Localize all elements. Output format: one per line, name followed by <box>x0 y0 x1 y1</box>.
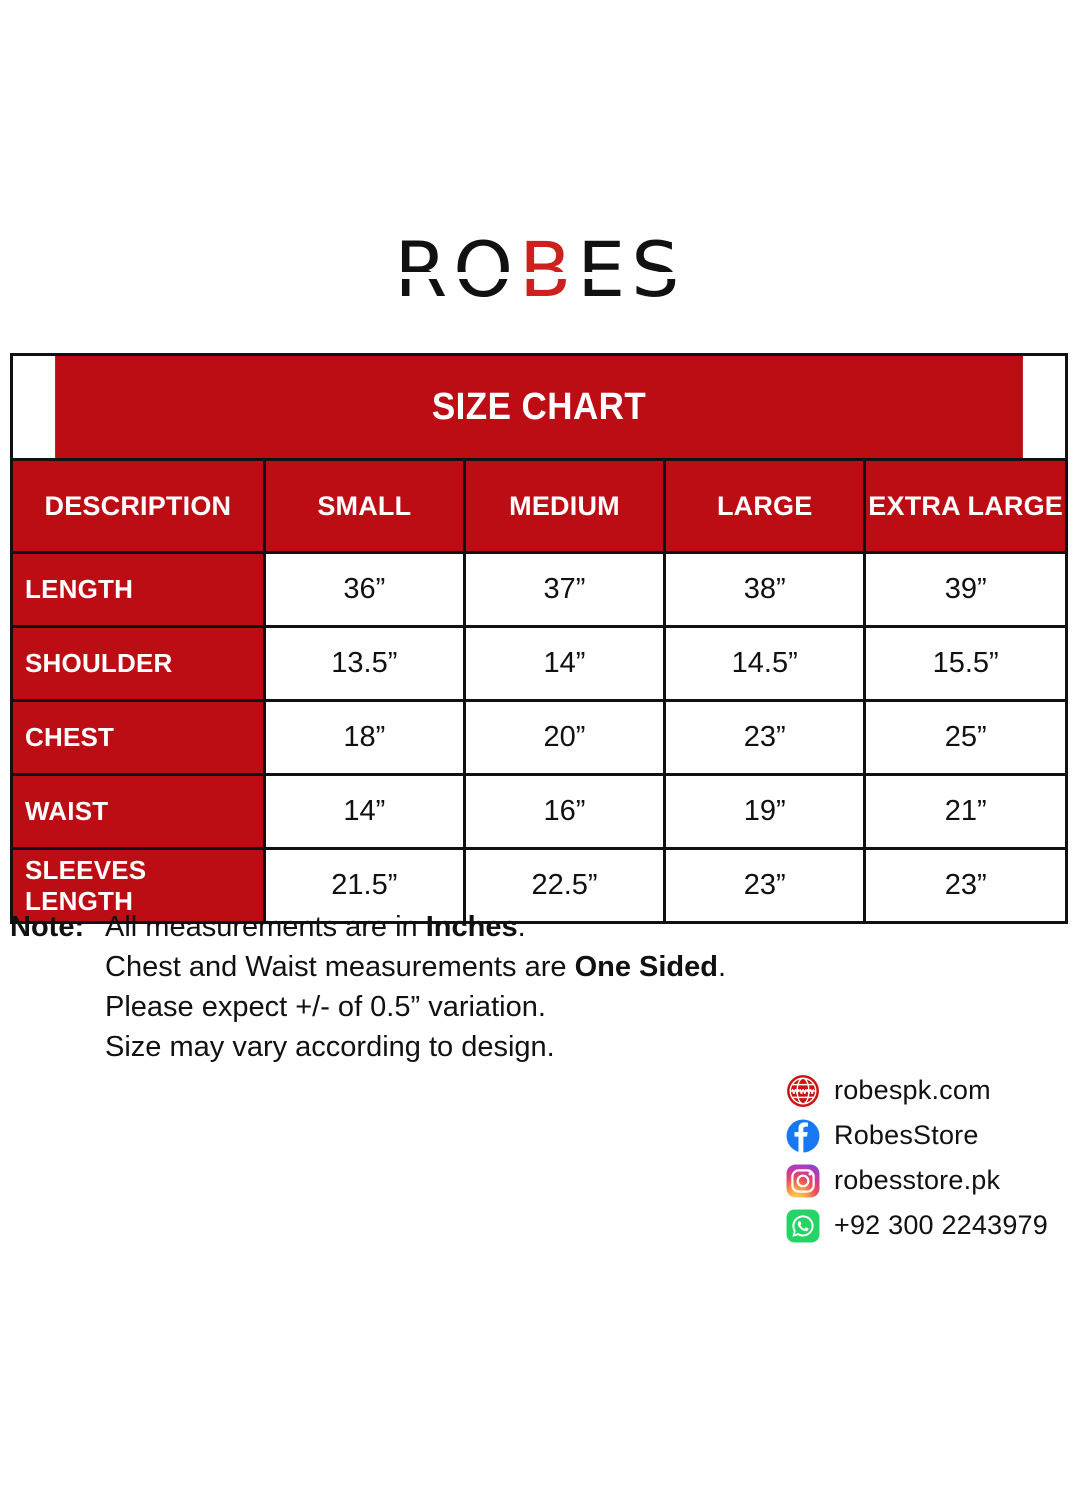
cell-shoulder-large: 14.5” <box>665 627 865 701</box>
note-line-1: All measurements are in Inches. <box>105 907 830 947</box>
contact-text-whatsapp: +92 300 2243979 <box>834 1210 1048 1241</box>
contact-text-facebook: RobesStore <box>834 1120 979 1151</box>
note-first-row: Note: All measurements are in Inches. Ch… <box>10 907 830 1067</box>
cell-shoulder-extra-large: 15.5” <box>865 627 1065 701</box>
contact-text-website: robespk.com <box>834 1075 991 1106</box>
cell-waist-medium: 16” <box>464 775 664 849</box>
note-line-1-bold: Inches <box>426 911 518 943</box>
size-chart-table: SIZE CHART DESCRIPTION SMALL MEDIUM LARG… <box>13 356 1065 921</box>
cell-length-small: 36” <box>264 553 464 627</box>
logo-text-part2: ES <box>577 225 685 314</box>
chart-title-row: SIZE CHART <box>13 356 1065 460</box>
table-row: WAIST 14” 16” 19” 21” <box>13 775 1065 849</box>
globe-www-icon: WWW <box>786 1074 820 1108</box>
cell-waist-extra-large: 21” <box>865 775 1065 849</box>
column-header-extra-large: EXTRA LARGE <box>865 460 1065 553</box>
cell-chest-extra-large: 25” <box>865 701 1065 775</box>
size-chart-frame: SIZE CHART DESCRIPTION SMALL MEDIUM LARG… <box>10 353 1068 924</box>
row-label-shoulder: SHOULDER <box>13 627 264 701</box>
cell-chest-large: 23” <box>665 701 865 775</box>
logo-stripe <box>390 272 689 279</box>
cell-chest-medium: 20” <box>464 701 664 775</box>
note-label: Note: <box>10 907 105 947</box>
column-header-medium: MEDIUM <box>464 460 664 553</box>
cell-waist-large: 19” <box>665 775 865 849</box>
note-lines: All measurements are in Inches. Chest an… <box>105 907 830 1067</box>
note-line-3: Please expect +/- of 0.5” variation. <box>105 987 830 1027</box>
row-label-chest: CHEST <box>13 701 264 775</box>
whatsapp-icon <box>786 1209 820 1243</box>
cell-shoulder-medium: 14” <box>464 627 664 701</box>
chart-title: SIZE CHART <box>55 356 1023 460</box>
contact-row-website[interactable]: WWW robespk.com <box>786 1068 1076 1113</box>
cell-chest-small: 18” <box>264 701 464 775</box>
logo-text: ROBES <box>394 228 685 314</box>
note-line-2-post: . <box>718 951 726 983</box>
cell-length-medium: 37” <box>464 553 664 627</box>
column-header-row: DESCRIPTION SMALL MEDIUM LARGE EXTRA LAR… <box>13 460 1065 553</box>
cell-length-extra-large: 39” <box>865 553 1065 627</box>
note-line-1-post: . <box>518 911 526 943</box>
note-line-2: Chest and Waist measurements are One Sid… <box>105 947 830 987</box>
table-row: CHEST 18” 20” 23” 25” <box>13 701 1065 775</box>
svg-text:WWW: WWW <box>792 1088 815 1096</box>
table-row: LENGTH 36” 37” 38” 39” <box>13 553 1065 627</box>
contact-row-whatsapp[interactable]: +92 300 2243979 <box>786 1203 1076 1248</box>
brand-logo: ROBES <box>0 228 1080 314</box>
contact-row-facebook[interactable]: RobesStore <box>786 1113 1076 1158</box>
instagram-icon <box>786 1164 820 1198</box>
column-header-small: SMALL <box>264 460 464 553</box>
logo-text-part1: RO <box>394 225 519 314</box>
note-line-2-pre: Chest and Waist measurements are <box>105 951 575 983</box>
contact-row-instagram[interactable]: robesstore.pk <box>786 1158 1076 1203</box>
contact-text-instagram: robesstore.pk <box>834 1165 1000 1196</box>
cell-length-large: 38” <box>665 553 865 627</box>
row-label-length: LENGTH <box>13 553 264 627</box>
table-row: SHOULDER 13.5” 14” 14.5” 15.5” <box>13 627 1065 701</box>
cell-waist-small: 14” <box>264 775 464 849</box>
column-header-description: DESCRIPTION <box>13 460 264 553</box>
row-label-waist: WAIST <box>13 775 264 849</box>
note-line-2-bold: One Sided <box>575 951 718 983</box>
contact-block: WWW robespk.com RobesStore <box>786 1068 1076 1248</box>
cell-shoulder-small: 13.5” <box>264 627 464 701</box>
note-block: Note: All measurements are in Inches. Ch… <box>10 907 830 1067</box>
note-line-1-pre: All measurements are in <box>105 911 426 943</box>
logo-text-accent: B <box>519 225 577 314</box>
note-line-4: Size may vary according to design. <box>105 1027 830 1067</box>
cell-sleeves-length-extra-large: 23” <box>865 849 1065 922</box>
facebook-icon <box>786 1119 820 1153</box>
column-header-large: LARGE <box>665 460 865 553</box>
